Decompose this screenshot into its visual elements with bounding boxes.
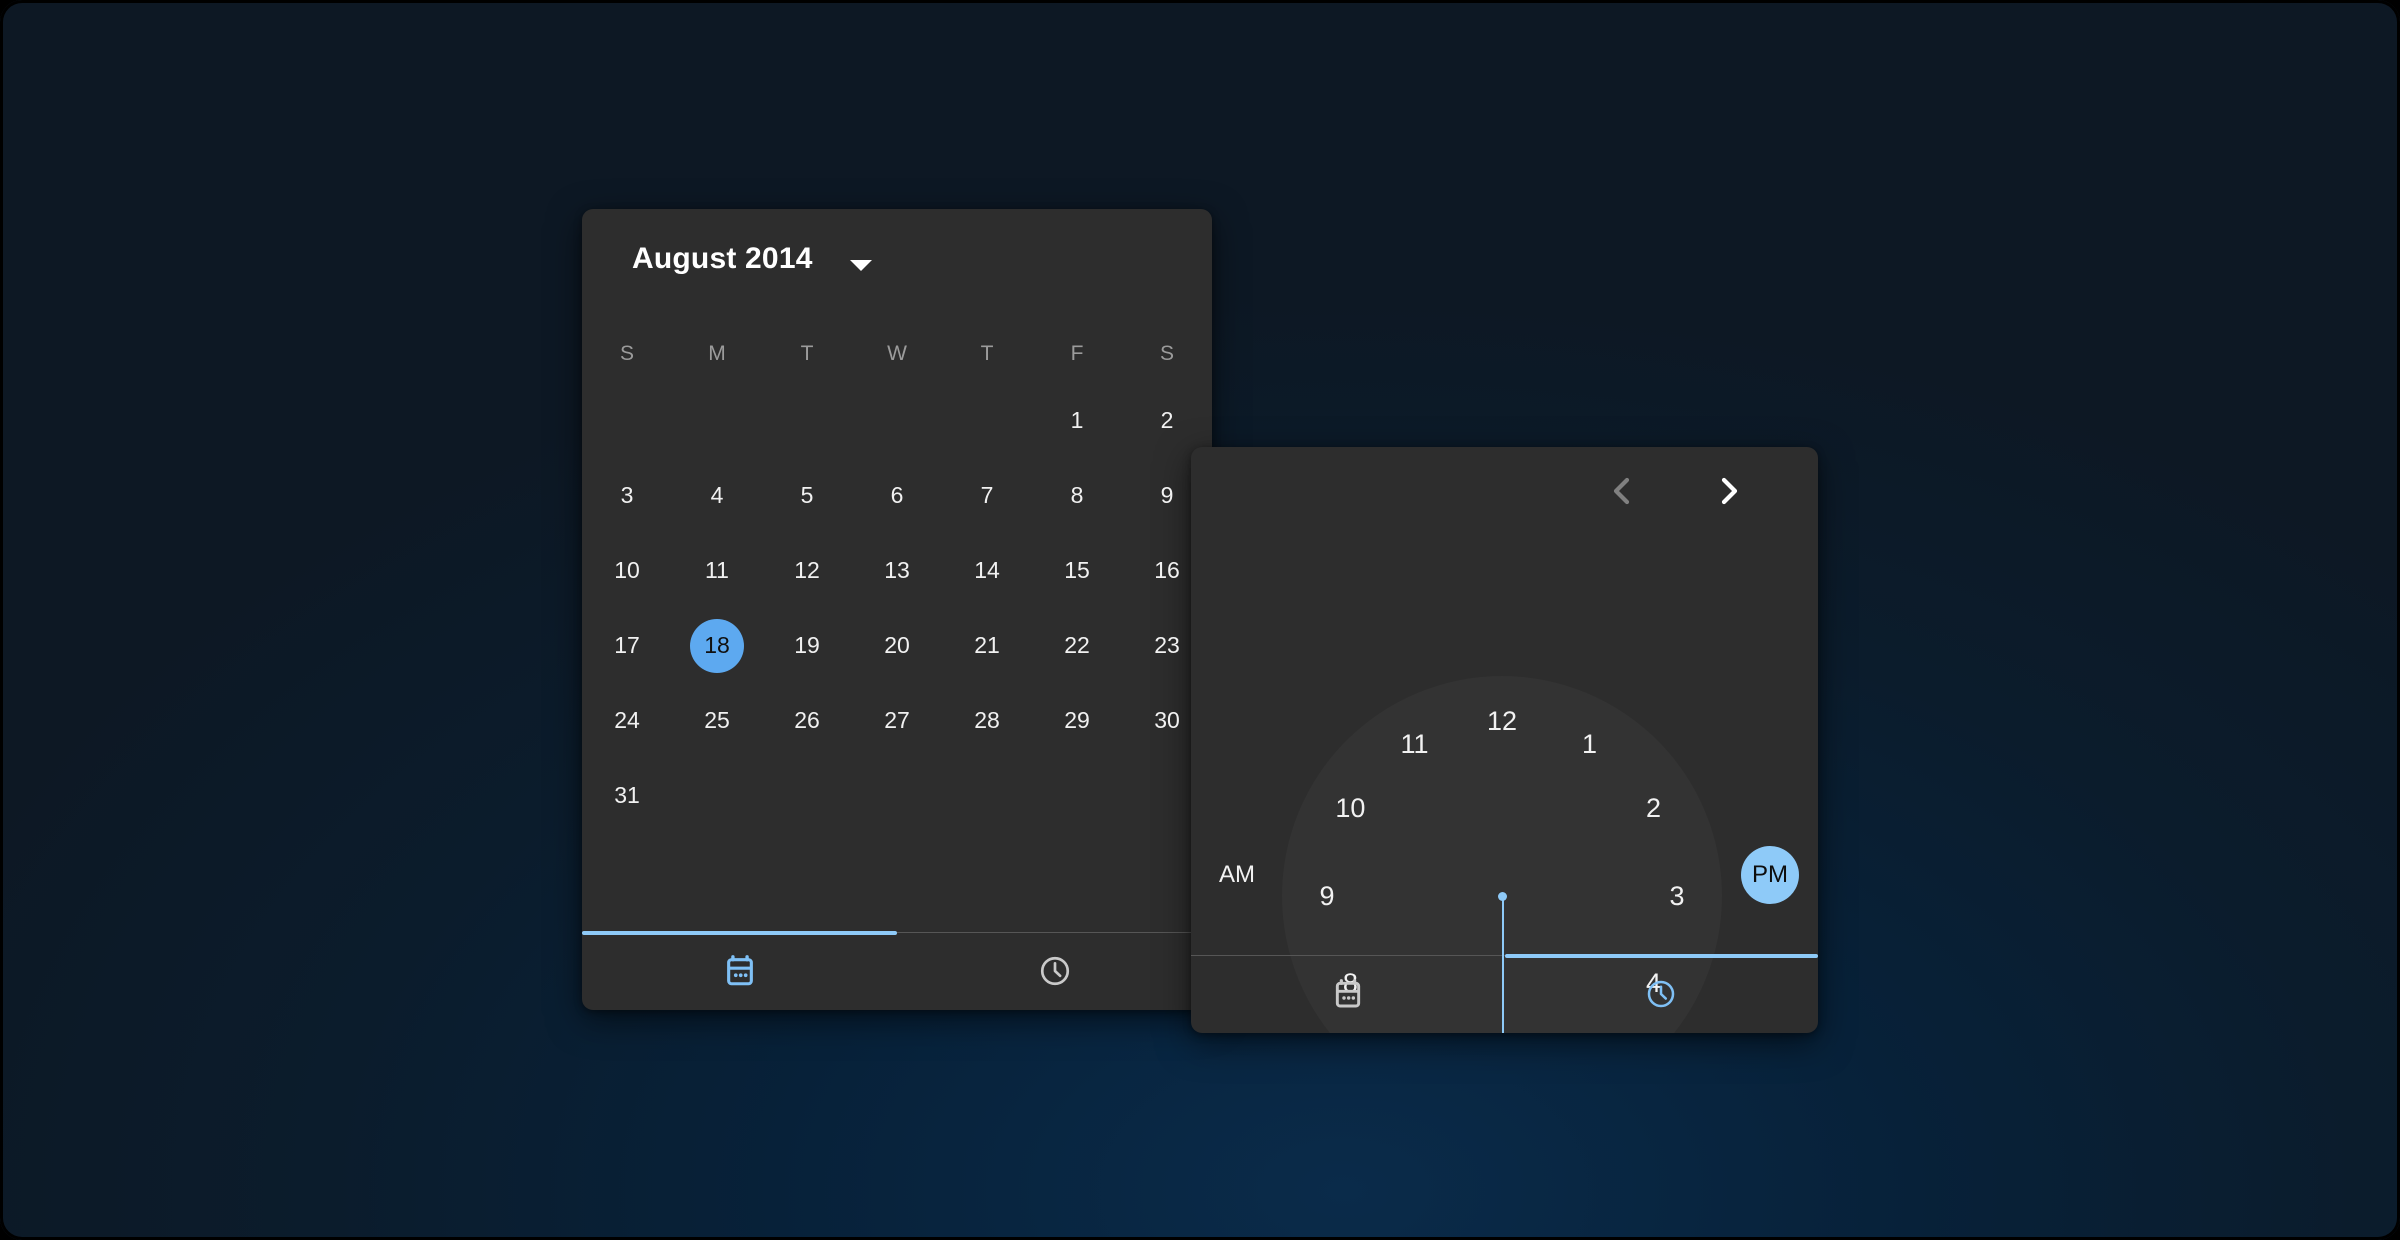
day-number: 28 <box>974 709 1000 732</box>
weekday-label: S <box>582 331 672 377</box>
day-number: 2 <box>1161 409 1174 432</box>
hour-option[interactable]: 11 <box>1387 716 1443 772</box>
day-number: 8 <box>1071 484 1084 507</box>
day-cell[interactable]: 31 <box>582 758 672 833</box>
day-number: 26 <box>794 709 820 732</box>
day-number: 11 <box>705 559 729 582</box>
day-cell[interactable]: 22 <box>1032 608 1122 683</box>
day-cell[interactable]: 21 <box>942 608 1032 683</box>
weekday-label: T <box>762 331 852 377</box>
day-grid: 0000012345678910111213141516171819202122… <box>582 383 1212 833</box>
day-cell[interactable]: 24 <box>582 683 672 758</box>
day-number: 14 <box>974 559 1000 582</box>
time-picker-tabbar <box>1191 955 1818 1033</box>
day-number: 1 <box>1071 409 1084 432</box>
hour-option[interactable]: 2 <box>1626 781 1682 837</box>
day-cell[interactable]: 7 <box>942 458 1032 533</box>
caret-down-icon[interactable] <box>850 260 872 271</box>
day-cell[interactable]: 12 <box>762 533 852 608</box>
clock-icon <box>1038 954 1072 988</box>
calendar-icon <box>1332 978 1364 1010</box>
desktop-background: August 2014 SMTWTFS 00000123456789101112… <box>0 0 2400 1240</box>
chevron-right-icon[interactable] <box>1707 469 1751 513</box>
day-number: 9 <box>1161 484 1174 507</box>
date-picker-tabbar <box>582 932 1212 1010</box>
day-cell[interactable]: 3 <box>582 458 672 533</box>
day-cell[interactable]: 29 <box>1032 683 1122 758</box>
date-picker-dialog: August 2014 SMTWTFS 00000123456789101112… <box>582 209 1212 1010</box>
weekday-label: W <box>852 331 942 377</box>
day-number: 22 <box>1064 634 1090 657</box>
chevron-left-icon[interactable] <box>1600 469 1644 513</box>
day-number: 4 <box>711 484 724 507</box>
day-number: 18 <box>704 634 730 657</box>
day-number: 15 <box>1064 559 1090 582</box>
day-number: 31 <box>614 784 640 807</box>
am-button[interactable]: AM <box>1208 846 1266 904</box>
day-number: 6 <box>891 484 904 507</box>
weekday-label: M <box>672 331 762 377</box>
weekday-label: S <box>1122 331 1212 377</box>
day-number: 17 <box>614 634 640 657</box>
day-number: 29 <box>1064 709 1090 732</box>
clock-center-dot <box>1498 892 1507 901</box>
day-number: 25 <box>704 709 730 732</box>
day-cell[interactable]: 10 <box>582 533 672 608</box>
day-cell[interactable]: 5 <box>762 458 852 533</box>
tab-date[interactable] <box>1191 955 1505 1033</box>
day-cell[interactable]: 1 <box>1032 383 1122 458</box>
date-picker-header: August 2014 <box>582 209 1212 313</box>
day-number: 5 <box>801 484 814 507</box>
pm-button[interactable]: PM <box>1741 846 1799 904</box>
weekday-header-row: SMTWTFS <box>582 331 1212 377</box>
day-cell[interactable]: 11 <box>672 533 762 608</box>
day-cell-empty: 0 <box>852 383 942 458</box>
weekday-label: T <box>942 331 1032 377</box>
time-picker-dialog: 121234567891011 AM PM <box>1191 447 1818 1033</box>
day-cell-empty: 0 <box>942 383 1032 458</box>
day-number: 12 <box>794 559 820 582</box>
day-cell[interactable]: 17 <box>582 608 672 683</box>
day-cell[interactable]: 25 <box>672 683 762 758</box>
hour-option[interactable]: 9 <box>1299 868 1355 924</box>
hour-option[interactable]: 1 <box>1562 716 1618 772</box>
day-cell-selected[interactable]: 18 <box>672 608 762 683</box>
hour-option[interactable]: 3 <box>1649 868 1705 924</box>
day-cell-empty: 0 <box>582 383 672 458</box>
calendar-icon <box>723 954 757 988</box>
day-cell[interactable]: 28 <box>942 683 1032 758</box>
day-number: 20 <box>884 634 910 657</box>
weekday-label: F <box>1032 331 1122 377</box>
month-year-label[interactable]: August 2014 <box>632 242 813 276</box>
day-cell[interactable]: 8 <box>1032 458 1122 533</box>
day-number: 16 <box>1154 559 1180 582</box>
day-number: 10 <box>614 559 640 582</box>
day-number: 7 <box>981 484 994 507</box>
day-cell[interactable]: 4 <box>672 458 762 533</box>
day-cell[interactable]: 20 <box>852 608 942 683</box>
hour-option[interactable]: 12 <box>1474 693 1530 749</box>
day-number: 23 <box>1154 634 1180 657</box>
day-number: 21 <box>974 634 1000 657</box>
day-number: 13 <box>884 559 910 582</box>
day-cell[interactable]: 19 <box>762 608 852 683</box>
day-number: 19 <box>794 634 820 657</box>
day-number: 30 <box>1154 709 1180 732</box>
day-number: 3 <box>621 484 634 507</box>
day-cell[interactable]: 6 <box>852 458 942 533</box>
day-cell[interactable]: 14 <box>942 533 1032 608</box>
hour-option[interactable]: 10 <box>1322 781 1378 837</box>
day-cell[interactable]: 15 <box>1032 533 1122 608</box>
clock-hand <box>1502 896 1504 1033</box>
tab-time[interactable] <box>1505 955 1819 1033</box>
day-cell-empty: 0 <box>672 383 762 458</box>
day-cell[interactable]: 13 <box>852 533 942 608</box>
day-number: 27 <box>884 709 910 732</box>
day-cell[interactable]: 27 <box>852 683 942 758</box>
tab-date[interactable] <box>582 932 897 1010</box>
day-cell-empty: 0 <box>762 383 852 458</box>
tab-time[interactable] <box>897 932 1212 1010</box>
day-number: 24 <box>614 709 640 732</box>
day-cell[interactable]: 26 <box>762 683 852 758</box>
clock-icon <box>1645 978 1677 1010</box>
